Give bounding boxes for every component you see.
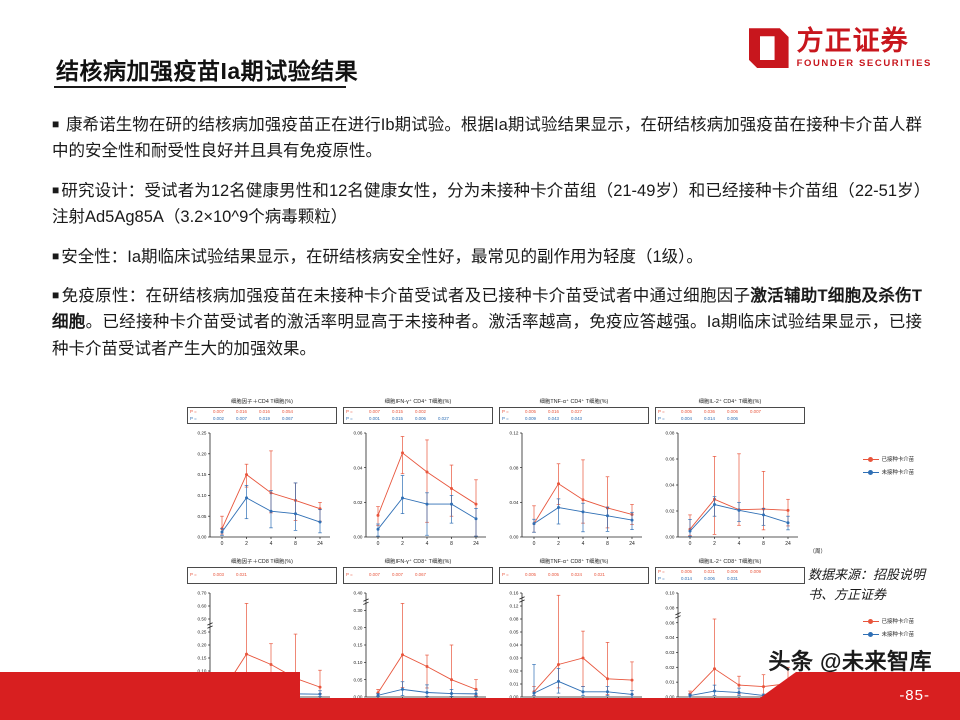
pvalue-label: P = <box>658 576 675 583</box>
svg-text:2: 2 <box>557 541 560 547</box>
bullet-square-icon: ■ <box>52 117 59 131</box>
svg-text:24: 24 <box>785 541 791 547</box>
svg-text:0.04: 0.04 <box>666 635 675 640</box>
x-axis-unit-label: （周） <box>809 547 826 555</box>
pvalue-value: 0.001 <box>363 416 386 423</box>
svg-text:0: 0 <box>377 541 380 547</box>
svg-text:0: 0 <box>533 541 536 547</box>
pvalue-value: 0.024 <box>565 572 588 579</box>
legend-marker-icon <box>863 469 879 475</box>
svg-text:0.03: 0.03 <box>510 656 519 661</box>
chart-panel: 细胞TNF-α⁺ CD8⁺ T细胞(%)P =0.0050.0050.0240.… <box>498 558 650 718</box>
svg-text:0.12: 0.12 <box>510 431 519 436</box>
chart-panel: 细胞IFN-γ⁺ CD8⁺ T细胞(%)P =0.0070.0070.0670.… <box>342 558 494 718</box>
chart-plot-area: 0.000.020.040.06024824 <box>342 427 494 553</box>
chart-grid: 细胞因子＋CD4 T细胞(%)P =0.0070.0160.0160.054P … <box>186 398 806 718</box>
svg-text:4: 4 <box>426 541 429 547</box>
pvalue-box: P =0.0070.0160.0160.054P =0.0020.0070.01… <box>187 407 337 424</box>
chart-panel-title: 细胞IL-2⁺ CD4⁺ T细胞(%) <box>654 398 806 407</box>
pvalue-value: 0.014 <box>675 576 698 583</box>
legend-item: 未接种卡介苗 <box>863 630 914 638</box>
svg-text:0.08: 0.08 <box>510 465 519 470</box>
pvalue-value: 0.067 <box>409 572 432 579</box>
svg-text:0.12: 0.12 <box>510 604 519 609</box>
svg-text:0.01: 0.01 <box>666 680 675 685</box>
legend-label: 已接种卡介苗 <box>882 617 914 625</box>
figure-panel-grid: 细胞因子＋CD4 T细胞(%)P =0.0070.0160.0160.054P … <box>186 398 806 718</box>
chart-legend: 已接种卡介苗未接种卡介苗 <box>863 617 914 638</box>
svg-text:0.02: 0.02 <box>510 669 519 674</box>
chart-panel: 细胞因子＋CD4 T细胞(%)P =0.0070.0160.0160.054P … <box>186 398 338 558</box>
svg-text:0.25: 0.25 <box>198 630 207 635</box>
page-title: 结核病加强疫苗Ia期试验结果 <box>56 52 358 86</box>
chart-panel-title: 细胞TNF-α⁺ CD4⁺ T细胞(%) <box>498 398 650 407</box>
svg-text:0.00: 0.00 <box>510 535 519 540</box>
pvalue-value: 0.015 <box>386 416 409 423</box>
page-number: -85- <box>899 687 930 704</box>
svg-text:0.04: 0.04 <box>510 643 519 648</box>
body-content: ■ 康希诺生物在研的结核病加强疫苗正在进行Ib期试验。根据Ia期试验结果显示，在… <box>52 112 922 375</box>
legend-item: 已接种卡介苗 <box>863 455 914 463</box>
svg-text:24: 24 <box>317 541 323 547</box>
svg-text:0.05: 0.05 <box>510 630 519 635</box>
pvalue-row: P =0.0050.0050.0240.021 <box>502 572 646 579</box>
svg-text:2: 2 <box>245 541 248 547</box>
chart-panel-title: 细胞因子＋CD8 T细胞(%) <box>186 558 338 567</box>
pvalue-value: 0.004 <box>675 416 698 423</box>
pvalue-value: 0.005 <box>542 572 565 579</box>
logo-chinese-name: 方正证券 <box>797 28 932 55</box>
svg-text:0: 0 <box>221 541 224 547</box>
footer-bar-bottom <box>0 698 960 720</box>
svg-text:4: 4 <box>270 541 273 547</box>
svg-text:0.08: 0.08 <box>666 431 675 436</box>
chart-panel: 细胞IL-2⁺ CD4⁺ T细胞(%)P =0.0050.0360.0060.0… <box>654 398 806 558</box>
svg-text:0.15: 0.15 <box>198 656 207 661</box>
footer-bar-left <box>0 672 300 698</box>
legend-marker-icon <box>863 456 879 462</box>
chart-panel-title: 细胞IL-2⁺ CD8⁺ T细胞(%) <box>654 558 806 567</box>
chart-plot-area: 0.000.010.020.030.040.050.080.120.160248… <box>498 587 650 713</box>
chart-plot-area: 0.000.050.100.150.200.300.40024824 <box>342 587 494 713</box>
pvalue-value: 0.021 <box>230 572 253 579</box>
pvalue-row: P =0.0140.0060.031 <box>658 576 802 583</box>
pvalue-value: 0.031 <box>721 576 744 583</box>
pvalue-row: P =0.0070.0070.067 <box>346 572 490 579</box>
svg-text:0.10: 0.10 <box>198 493 207 498</box>
svg-text:0.04: 0.04 <box>666 483 675 488</box>
svg-text:0.04: 0.04 <box>510 500 519 505</box>
pvalue-value: 0.014 <box>698 416 721 423</box>
svg-text:0.01: 0.01 <box>510 682 519 687</box>
slide: 方正证券 FOUNDER SECURITIES 结核病加强疫苗Ia期试验结果 ■… <box>0 0 960 720</box>
pvalue-value: 0.009 <box>519 416 542 423</box>
legend-marker-icon <box>863 631 879 637</box>
pvalue-value: 0.043 <box>542 416 565 423</box>
pvalue-label: P = <box>502 572 519 579</box>
chart-panel-title: 细胞IFN-γ⁺ CD4⁺ T细胞(%) <box>342 398 494 407</box>
svg-text:0.02: 0.02 <box>666 509 675 514</box>
pvalue-value: 0.027 <box>432 416 455 423</box>
pvalue-box: P =0.0070.0150.002P =0.0010.0150.0060.02… <box>343 407 493 424</box>
svg-text:0.00: 0.00 <box>666 535 675 540</box>
pvalue-row: P =0.0040.0140.006 <box>658 416 802 423</box>
chart-panel-title: 细胞IFN-γ⁺ CD8⁺ T细胞(%) <box>342 558 494 567</box>
pvalue-value: 0.005 <box>519 572 542 579</box>
svg-text:0.20: 0.20 <box>198 451 207 456</box>
chart-panel-title: 细胞TNF-α⁺ CD8⁺ T细胞(%) <box>498 558 650 567</box>
svg-text:0.10: 0.10 <box>354 660 363 665</box>
svg-text:0.04: 0.04 <box>354 465 363 470</box>
pvalue-label: P = <box>346 572 363 579</box>
pvalue-box: P =0.0050.0360.0060.007P =0.0040.0140.00… <box>655 407 805 424</box>
legend-item: 已接种卡介苗 <box>863 617 914 625</box>
pvalue-value: 0.006 <box>698 576 721 583</box>
pvalue-row: P =0.0030.021 <box>190 572 334 579</box>
svg-text:2: 2 <box>401 541 404 547</box>
pvalue-value: 0.002 <box>207 416 230 423</box>
pvalue-row: P =0.0090.0430.043 <box>502 416 646 423</box>
svg-text:4: 4 <box>582 541 585 547</box>
pvalue-value: 0.006 <box>409 416 432 423</box>
svg-text:0.20: 0.20 <box>354 625 363 630</box>
legend-label: 未接种卡介苗 <box>882 468 914 476</box>
chart-plot-area: 0.000.050.100.150.200.25024824 <box>186 427 338 553</box>
pvalue-value: 0.067 <box>276 416 299 423</box>
svg-text:0.00: 0.00 <box>198 535 207 540</box>
svg-text:0.05: 0.05 <box>354 677 363 682</box>
title-underline <box>54 86 346 88</box>
svg-text:0.08: 0.08 <box>510 617 519 622</box>
paragraph-safety: ■安全性：Ia期临床试验结果显示，在研结核病安全性好，最常见的副作用为轻度（1级… <box>52 244 922 270</box>
paragraph-overview-text: 康希诺生物在研的结核病加强疫苗正在进行Ib期试验。根据Ia期试验结果显示，在研结… <box>52 116 922 160</box>
bullet-square-icon: ■ <box>52 288 60 302</box>
paragraph-study-design: ■研究设计：受试者为12名健康男性和12名健康女性，分为未接种卡介苗组（21-4… <box>52 178 922 231</box>
paragraph-immunogenicity: ■免疫原性：在研结核病加强疫苗在未接种卡介苗受试者及已接种卡介苗受试者中通过细胞… <box>52 283 922 362</box>
pvalue-box: P =0.0030.021 <box>187 567 337 584</box>
svg-text:0.20: 0.20 <box>198 643 207 648</box>
svg-text:2: 2 <box>713 541 716 547</box>
svg-text:0.15: 0.15 <box>354 643 363 648</box>
pvalue-value: 0.007 <box>230 416 253 423</box>
svg-text:0.08: 0.08 <box>666 605 675 610</box>
pvalue-row: P =0.0020.0070.0190.067 <box>190 416 334 423</box>
svg-text:0.06: 0.06 <box>666 457 675 462</box>
chart-legend: 已接种卡介苗未接种卡介苗 <box>863 455 914 476</box>
pvalue-value: 0.007 <box>363 572 386 579</box>
source-note: 数据来源：招股说明书、方正证券 <box>808 565 938 604</box>
pvalue-label: P = <box>190 572 207 579</box>
logo-english-name: FOUNDER SECURITIES <box>797 59 932 69</box>
chart-panel: 细胞TNF-α⁺ CD4⁺ T细胞(%)P =0.0050.0160.027P … <box>498 398 650 558</box>
pvalue-box: P =0.0050.0210.0060.009P =0.0140.0060.03… <box>655 567 805 584</box>
paragraph-immunogenicity-tail: 。已经接种卡介苗受试者的激活率明显高于未接种者。激活率越高，免疫应答越强。Ia期… <box>52 313 922 357</box>
paragraph-study-design-text: 研究设计：受试者为12名健康男性和12名健康女性，分为未接种卡介苗组（21-49… <box>52 182 922 226</box>
founder-securities-logo: 方正证券 FOUNDER SECURITIES <box>749 28 932 69</box>
pvalue-label: P = <box>346 416 363 423</box>
pvalue-label: P = <box>190 416 207 423</box>
pvalue-value: 0.019 <box>253 416 276 423</box>
svg-text:0.30: 0.30 <box>354 608 363 613</box>
svg-text:8: 8 <box>606 541 609 547</box>
svg-text:0.16: 0.16 <box>510 591 519 596</box>
paragraph-immunogenicity-lead: 免疫原性：在研结核病加强疫苗在未接种卡介苗受试者及已接种卡介苗受试者中通过细胞因… <box>62 287 751 305</box>
svg-text:8: 8 <box>762 541 765 547</box>
pvalue-value: 0.007 <box>386 572 409 579</box>
bullet-square-icon: ■ <box>52 183 59 197</box>
svg-text:0.40: 0.40 <box>354 591 363 596</box>
pvalue-value: 0.021 <box>588 572 611 579</box>
bullet-square-icon: ■ <box>52 249 59 263</box>
svg-text:0.60: 0.60 <box>198 604 207 609</box>
svg-text:4: 4 <box>738 541 741 547</box>
svg-text:0.15: 0.15 <box>198 472 207 477</box>
svg-text:8: 8 <box>294 541 297 547</box>
chart-plot-area: 0.000.020.040.060.08024824（周）已接种卡介苗未接种卡介… <box>654 427 806 553</box>
svg-text:0.50: 0.50 <box>198 617 207 622</box>
svg-text:0.03: 0.03 <box>666 650 675 655</box>
svg-text:24: 24 <box>473 541 479 547</box>
legend-marker-icon <box>863 618 879 624</box>
svg-text:0: 0 <box>689 541 692 547</box>
svg-text:0.02: 0.02 <box>666 665 675 670</box>
legend-label: 未接种卡介苗 <box>882 630 914 638</box>
svg-text:0.06: 0.06 <box>354 431 363 436</box>
pvalue-row: P =0.0010.0150.0060.027 <box>346 416 490 423</box>
chart-panel: 细胞IFN-γ⁺ CD4⁺ T细胞(%)P =0.0070.0150.002P … <box>342 398 494 558</box>
chart-panel-title: 细胞因子＋CD4 T细胞(%) <box>186 398 338 407</box>
svg-text:0.05: 0.05 <box>198 514 207 519</box>
pvalue-box: P =0.0070.0070.067 <box>343 567 493 584</box>
logo-mark-icon <box>749 28 789 68</box>
svg-text:0.00: 0.00 <box>354 535 363 540</box>
pvalue-label: P = <box>658 416 675 423</box>
paragraph-safety-text: 安全性：Ia期临床试验结果显示，在研结核病安全性好，最常见的副作用为轻度（1级）… <box>61 248 703 266</box>
svg-text:8: 8 <box>450 541 453 547</box>
svg-text:0.02: 0.02 <box>354 500 363 505</box>
pvalue-box: P =0.0050.0160.027P =0.0090.0430.043 <box>499 407 649 424</box>
legend-label: 已接种卡介苗 <box>882 455 914 463</box>
svg-text:0.10: 0.10 <box>666 591 675 596</box>
pvalue-value: 0.003 <box>207 572 230 579</box>
paragraph-overview: ■ 康希诺生物在研的结核病加强疫苗正在进行Ib期试验。根据Ia期试验结果显示，在… <box>52 112 922 165</box>
svg-text:24: 24 <box>629 541 635 547</box>
pvalue-label: P = <box>502 416 519 423</box>
svg-text:0.25: 0.25 <box>198 431 207 436</box>
pvalue-value: 0.006 <box>721 416 744 423</box>
chart-plot-area: 0.000.040.080.12024824 <box>498 427 650 553</box>
watermark: 头条 @未来智库 <box>768 644 932 676</box>
svg-text:0.70: 0.70 <box>198 591 207 596</box>
svg-text:0.06: 0.06 <box>666 620 675 625</box>
pvalue-box: P =0.0050.0050.0240.021 <box>499 567 649 584</box>
legend-item: 未接种卡介苗 <box>863 468 914 476</box>
pvalue-value: 0.043 <box>565 416 588 423</box>
